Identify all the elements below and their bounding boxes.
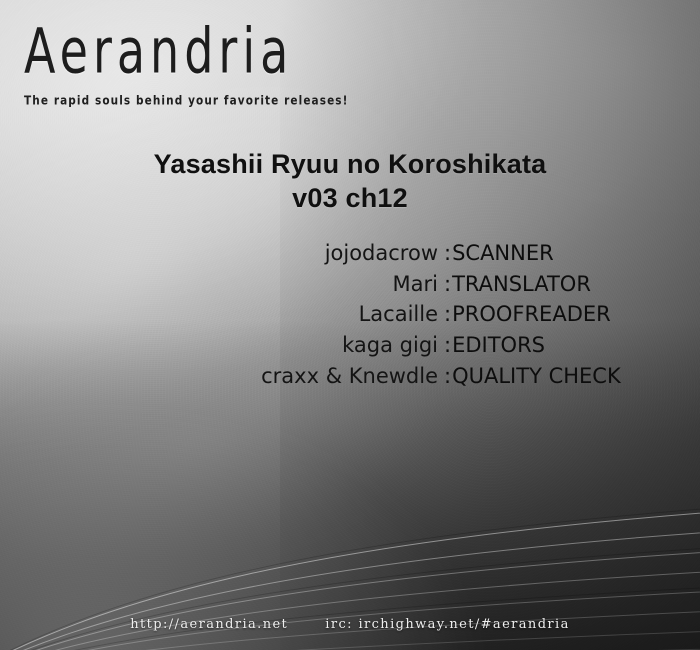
footer: http://aerandria.net irc: irchighway.net…: [0, 617, 700, 632]
group-logo: Aerandria The rapid souls behind your fa…: [24, 20, 344, 106]
credit-row: kaga gigi EDITORS: [261, 330, 644, 361]
group-logo-text: Aerandria: [24, 20, 344, 82]
website-link[interactable]: http://aerandria.net: [130, 617, 288, 632]
credit-name: craxx & Knewdle: [261, 361, 444, 392]
credit-role: SCANNER: [444, 238, 644, 269]
credit-row: Mari TRANSLATOR: [261, 269, 644, 300]
credits-list: jojodacrow SCANNER Mari TRANSLATOR Lacai…: [261, 238, 644, 391]
credit-role: EDITORS: [444, 330, 644, 361]
group-tagline: The rapid souls behind your favorite rel…: [24, 94, 344, 108]
credit-row: jojodacrow SCANNER: [261, 238, 644, 269]
credit-name: jojodacrow: [325, 238, 444, 269]
credit-role: QUALITY CHECK: [444, 361, 644, 392]
credit-row: craxx & Knewdle QUALITY CHECK: [261, 361, 644, 392]
credit-name: Mari: [393, 269, 444, 300]
credit-role: PROOFREADER: [444, 299, 644, 330]
irc-link[interactable]: irc: irchighway.net/#aerandria: [325, 617, 569, 632]
credits-page: Aerandria The rapid souls behind your fa…: [0, 0, 700, 650]
credit-name: kaga gigi: [342, 330, 444, 361]
credit-row: Lacaille PROOFREADER: [261, 299, 644, 330]
credit-role: TRANSLATOR: [444, 269, 644, 300]
title-line-1: Yasashii Ryuu no Koroshikata: [154, 149, 547, 179]
title-line-2: v03 ch12: [0, 182, 700, 216]
credit-name: Lacaille: [359, 299, 444, 330]
page-title: Yasashii Ryuu no Koroshikata v03 ch12: [0, 148, 700, 216]
